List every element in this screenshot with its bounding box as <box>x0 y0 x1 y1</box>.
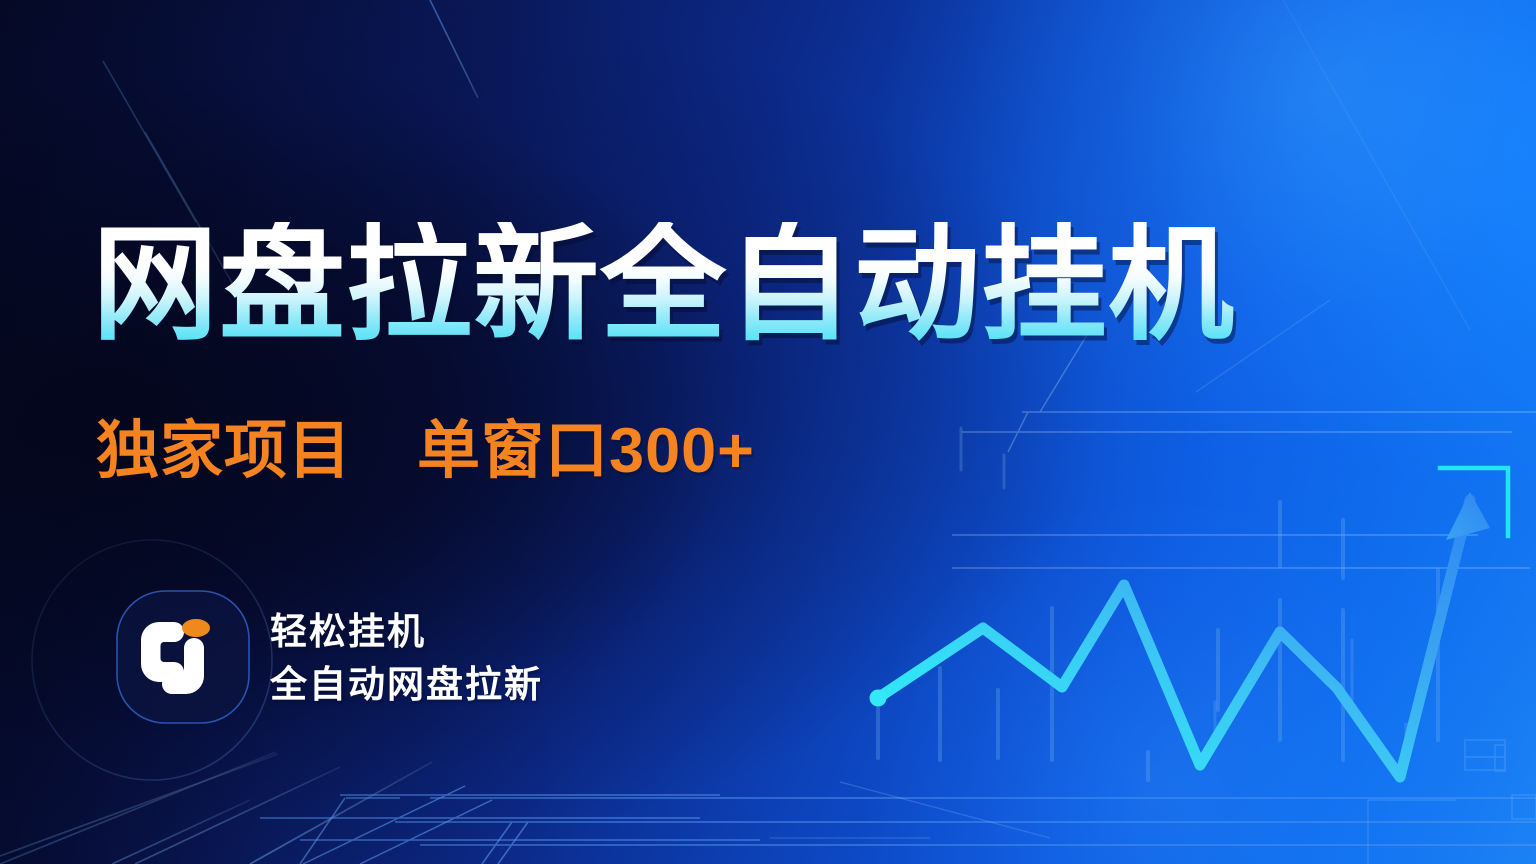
brand-logo <box>112 586 254 728</box>
tagline-line-1: 轻松挂机 <box>270 606 543 659</box>
subtitle: 独家项目 单窗口300+ <box>96 418 755 484</box>
logo-orange-dot <box>182 619 210 637</box>
page-title: 网盘拉新全自动挂机 <box>92 222 1235 348</box>
tagline: 轻松挂机 全自动网盘拉新 <box>270 606 543 711</box>
logo-plate <box>117 591 249 723</box>
tagline-line-2: 全自动网盘拉新 <box>270 659 543 712</box>
subtitle-right: 单窗口300+ <box>417 416 755 486</box>
subtitle-left: 独家项目 <box>96 416 352 486</box>
poster-root: 网盘拉新全自动挂机 独家项目 单窗口300+ <box>0 0 1536 864</box>
